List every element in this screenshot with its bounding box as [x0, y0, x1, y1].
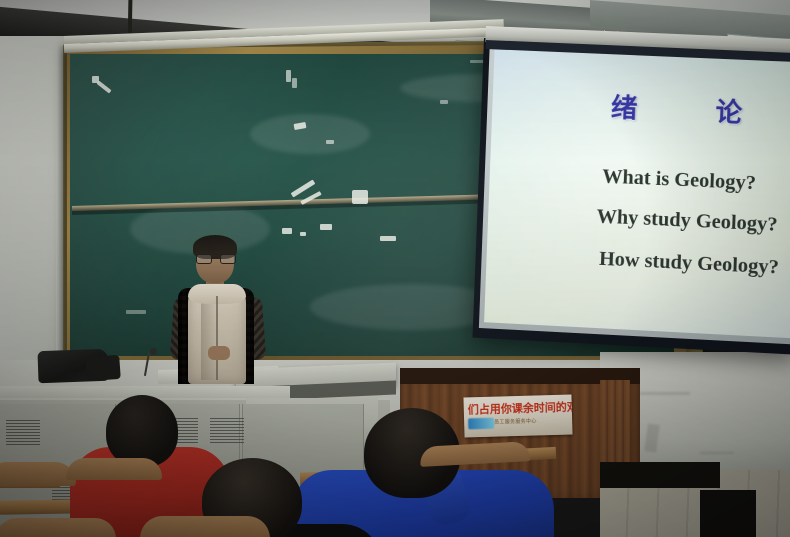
slide-title: 绪 论: [610, 87, 777, 131]
microphone-head: [150, 348, 157, 355]
presenter-vest-shadow: [201, 294, 217, 380]
chalk-mark-3: [286, 70, 291, 82]
floor-shadow-right: [700, 490, 756, 537]
chalk-mark-8: [300, 232, 306, 236]
wall-scuff-1: [640, 392, 690, 395]
chair-back-4: [140, 516, 270, 537]
glasses-lens-right: [220, 254, 236, 264]
chair-back-2: [66, 458, 162, 480]
presenter-glasses: [196, 254, 234, 262]
chair-back-3: [0, 518, 116, 537]
eraser-on-rail: [352, 190, 368, 204]
podium-vent-1: [6, 420, 40, 446]
chair-back-1: [0, 462, 76, 486]
student-red-jacket-head: [106, 395, 178, 467]
projector-screen: 绪 论 What is Geology? Why study Geology? …: [473, 38, 790, 355]
chalk-mark-9: [320, 224, 332, 230]
wall-scuff-2: [700, 452, 734, 454]
chalk-mark-13: [126, 310, 146, 314]
chalk-smudge-1: [250, 114, 370, 154]
chalk-mark-12: [470, 60, 484, 63]
glasses-lens-left: [196, 254, 212, 264]
chalk-mark-6: [326, 140, 334, 144]
presenter-hands: [208, 346, 230, 360]
presenter: [168, 238, 266, 386]
chalk-mark-11: [440, 100, 448, 104]
projected-slide: 绪 论 What is Geology? Why study Geology? …: [484, 48, 790, 338]
chalk-mark-7: [282, 228, 292, 234]
presenter-vest-zipper: [216, 296, 218, 380]
floor-shadow-left: [600, 462, 720, 488]
glasses-bridge: [211, 257, 219, 258]
chalk-mark-4: [292, 78, 297, 88]
classroom-photo: 绪 论 What is Geology? Why study Geology? …: [0, 0, 790, 537]
bag-secondary: [85, 355, 121, 381]
chalk-mark-2: [92, 76, 99, 83]
chalk-mark-10: [380, 236, 396, 241]
